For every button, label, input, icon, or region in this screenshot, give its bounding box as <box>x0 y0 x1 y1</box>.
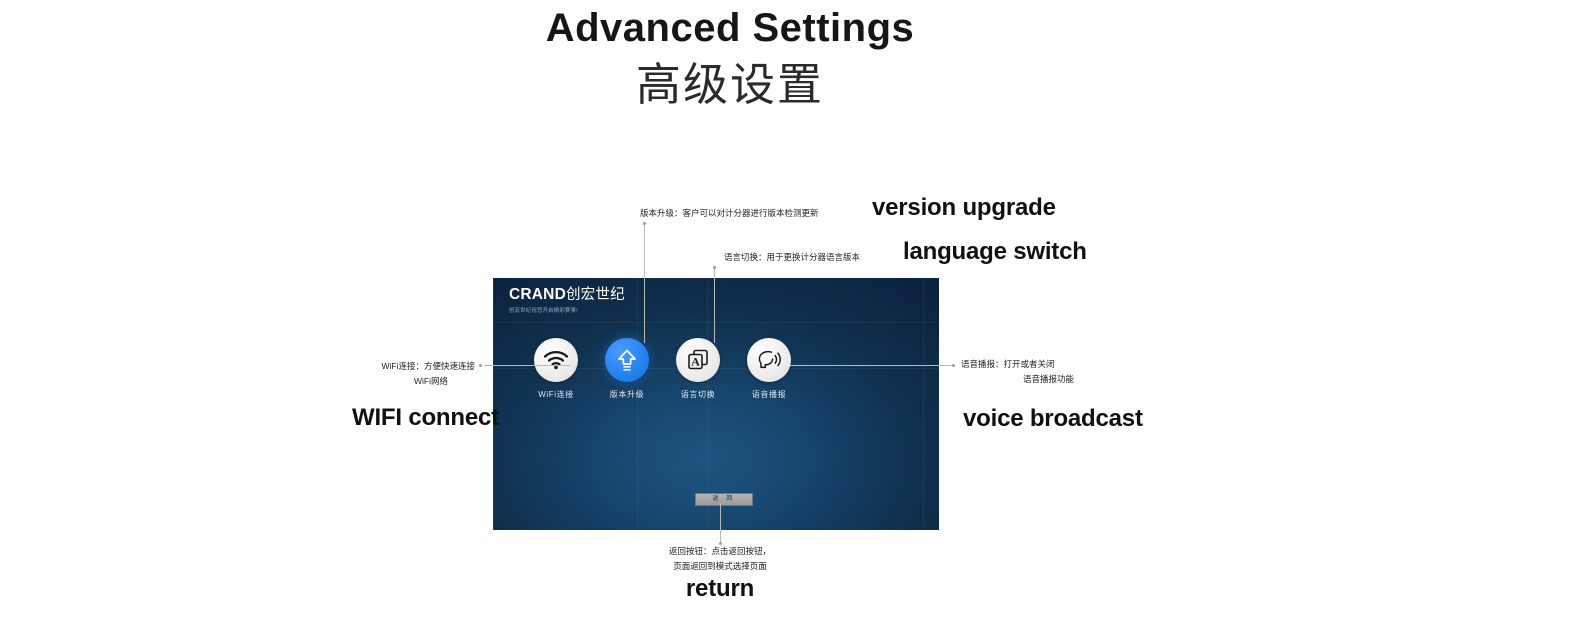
leader-line-language-switch <box>714 268 715 343</box>
upload-arrow-icon <box>616 348 638 372</box>
callout-return-english: return <box>620 575 820 603</box>
device-screen: CRAND创宏世纪 创宏世纪祝您开启精彩赛事! WiFi连接 <box>493 278 939 530</box>
leader-line-return <box>720 503 721 543</box>
settings-item-label: 语言切换 <box>681 389 715 400</box>
settings-item-label: WiFi连接 <box>538 389 574 400</box>
callout-wifi-connect-chinese-line1: WiFi连接：方便快速连接 <box>295 359 475 374</box>
settings-item-voice-broadcast[interactable]: 语音播报 <box>746 338 792 400</box>
screen-gridline <box>637 278 638 530</box>
leader-line-voice-broadcast <box>790 365 954 366</box>
leader-dot-wifi-connect <box>479 364 482 367</box>
callout-return-chinese-line2: 页面返回到模式选择页面 <box>620 559 820 574</box>
language-a-card-icon-circle[interactable]: A <box>676 338 720 382</box>
brand-tagline: 创宏世纪祝您开启精彩赛事! <box>509 307 625 316</box>
leader-dot-language-switch <box>713 266 716 269</box>
upload-arrow-icon-circle[interactable] <box>605 338 649 382</box>
page-title-chinese: 高级设置 <box>0 56 1460 114</box>
page-title-english: Advanced Settings <box>0 0 1460 56</box>
callout-voice-broadcast-english: voice broadcast <box>963 405 1143 433</box>
settings-item-wifi[interactable]: WiFi连接 <box>533 338 579 400</box>
callout-wifi-connect-chinese-line2: WiFi网络 <box>295 374 448 389</box>
brand-name-english: CRAND <box>509 286 566 303</box>
callout-language-switch-english: language switch <box>903 238 1087 266</box>
leader-line-version-upgrade <box>644 224 645 343</box>
svg-text:A: A <box>691 354 700 368</box>
screen-gridline <box>923 278 924 530</box>
callout-language-switch-chinese: 语言切换：用于更换计分器语言版本 <box>724 250 860 265</box>
callout-return-chinese-line1: 返回按钮：点击返回按钮， <box>620 544 820 559</box>
wifi-icon <box>543 350 569 370</box>
return-button-label: 返 回 <box>713 495 736 504</box>
speaking-head-icon <box>756 349 782 371</box>
brand-name-chinese: 创宏世纪 <box>566 287 625 303</box>
leader-dot-version-upgrade <box>643 222 646 225</box>
speaking-head-icon-circle[interactable] <box>747 338 791 382</box>
callout-version-upgrade-english: version upgrade <box>872 194 1056 222</box>
callout-version-upgrade-chinese: 版本升级：客户可以对计分器进行版本检测更新 <box>640 206 819 221</box>
screen-gridline <box>493 322 939 323</box>
page-title-block: Advanced Settings 高级设置 <box>0 0 1460 114</box>
brand-name: CRAND创宏世纪 <box>509 285 625 305</box>
return-button[interactable]: 返 回 <box>695 493 753 506</box>
settings-item-label: 语音播报 <box>752 389 786 400</box>
brand-logo: CRAND创宏世纪 创宏世纪祝您开启精彩赛事! <box>509 285 625 316</box>
settings-item-language-switch[interactable]: A 语言切换 <box>675 338 721 400</box>
leader-dot-voice-broadcast <box>952 364 955 367</box>
callout-wifi-connect-english: WIFI connect <box>352 404 499 432</box>
leader-line-wifi-connect <box>484 365 570 366</box>
settings-item-version-upgrade[interactable]: 版本升级 <box>604 338 650 400</box>
settings-item-label: 版本升级 <box>610 389 644 400</box>
settings-icon-row: WiFi连接 版本升级 A 语言切换 <box>533 338 899 400</box>
callout-voice-broadcast-chinese-line1: 语音播报：打开或者关闭 <box>961 357 1055 372</box>
wifi-icon-circle[interactable] <box>534 338 578 382</box>
language-a-card-icon: A <box>686 348 710 372</box>
callout-voice-broadcast-chinese-line2: 语音播报功能 <box>961 372 1074 387</box>
